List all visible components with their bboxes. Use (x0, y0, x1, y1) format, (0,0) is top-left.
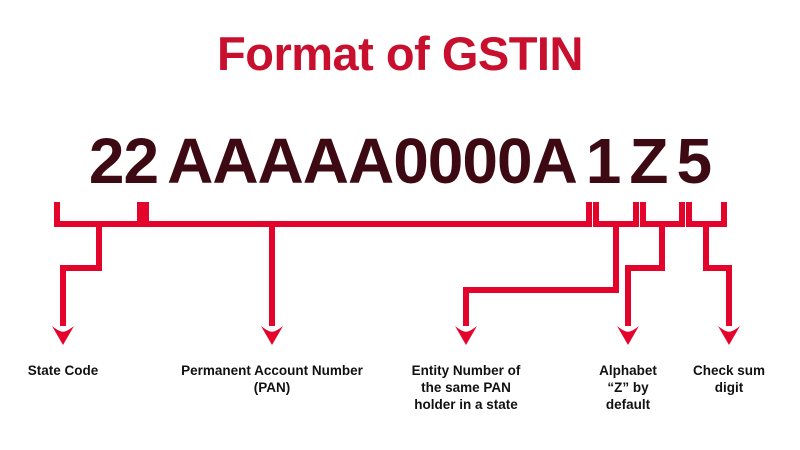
elbow-alphabet-z (628, 224, 662, 326)
callout-label-entity-number: Entity Number of the same PAN holder in … (376, 362, 556, 413)
elbow-state-code (63, 224, 99, 326)
callout-label-check-digit: Check sum digit (669, 362, 789, 396)
gstin-number: 22AAAAA0000A1Z5 (0, 124, 800, 198)
gstin-segment-pan: AAAAA0000A (167, 125, 577, 197)
callout-label-pan: Permanent Account Number (PAN) (137, 362, 407, 396)
arrow-entity-number (455, 326, 477, 345)
arrow-alphabet-z (617, 326, 639, 345)
callout-label-state-code: State Code (0, 362, 133, 379)
gstin-segment-check-digit: 5 (676, 125, 711, 197)
arrow-check-digit (718, 326, 740, 345)
elbow-check-digit (706, 224, 729, 326)
elbow-layer (63, 224, 729, 326)
gstin-segment-state-code: 22 (89, 125, 158, 197)
gstin-format-diagram: Format of GSTIN 22AAAAA0000A1Z5 State Co… (0, 0, 800, 450)
bracket-check-digit (689, 202, 724, 224)
bracket-state-code (57, 202, 140, 224)
bracket-pan (146, 202, 589, 224)
bracket-layer (57, 202, 724, 224)
page-title: Format of GSTIN (0, 26, 800, 81)
elbow-entity-number (466, 224, 616, 326)
gstin-segment-alphabet-z: Z (629, 125, 667, 197)
arrowhead-layer (52, 326, 740, 345)
gstin-segment-entity-number: 1 (586, 125, 621, 197)
bracket-alphabet-z (643, 202, 682, 224)
arrow-state-code (52, 326, 74, 345)
arrow-pan (261, 326, 283, 345)
bracket-entity-number (596, 202, 636, 224)
